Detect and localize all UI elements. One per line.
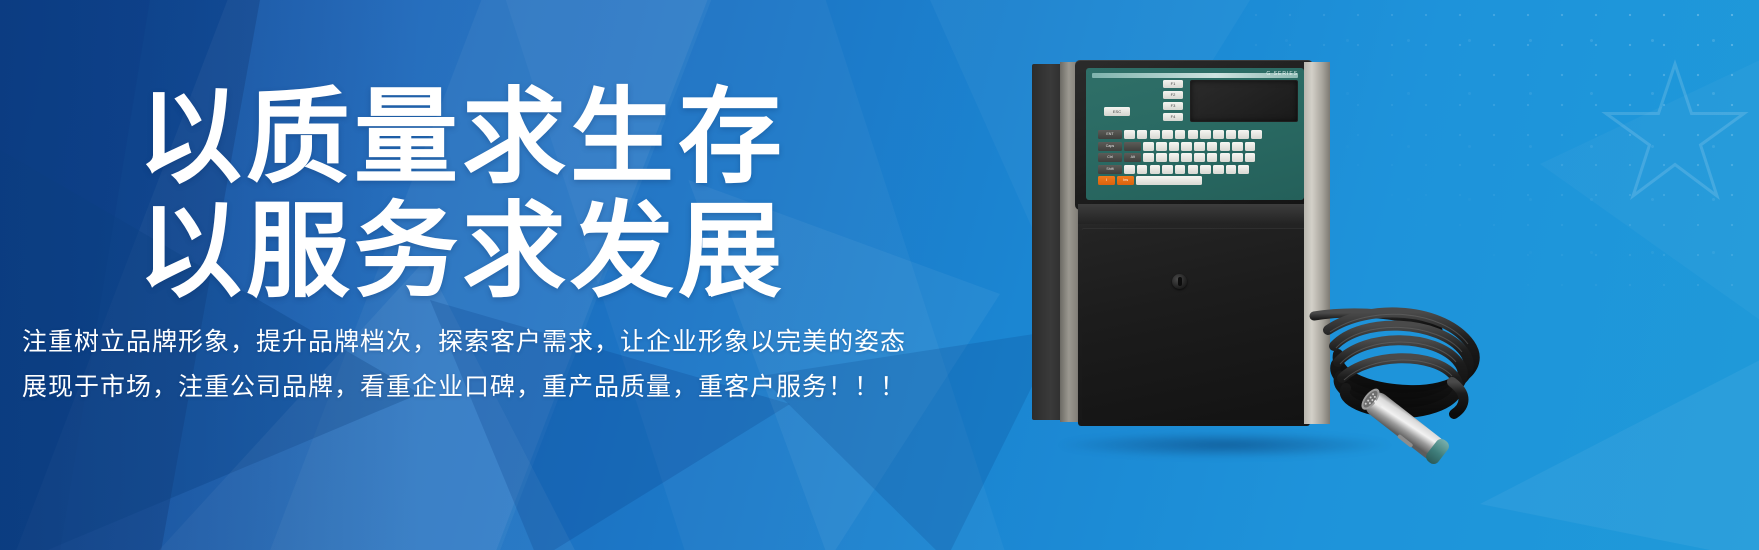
key-row1-1[interactable]: [1124, 130, 1135, 139]
key-orange-1[interactable]: I: [1098, 176, 1115, 185]
key-row3-2[interactable]: [1156, 153, 1167, 162]
key-row2-2[interactable]: [1156, 142, 1167, 151]
headline-line-1: 以质量求生存: [138, 86, 786, 190]
product-image-inkjet-printer: G SERIES F1 F2 F3 F4 ESC ENT: [1020, 40, 1640, 510]
key-row4-2[interactable]: [1137, 165, 1148, 174]
key-row4-4[interactable]: [1162, 165, 1173, 174]
keyboard-row: ENT: [1098, 130, 1294, 139]
key-row1-5[interactable]: [1175, 130, 1186, 139]
key-row3-8[interactable]: [1232, 153, 1243, 162]
lcd-screen: [1190, 80, 1298, 122]
key-row1-4[interactable]: [1162, 130, 1173, 139]
cabinet-door: [1082, 228, 1306, 420]
key-row4-8[interactable]: [1213, 165, 1224, 174]
subcopy-line-2: 展现于市场，注重公司品牌，看重企业口碑，重产品质量，重客户服务！！！: [22, 375, 906, 400]
cabinet-top-lip: [1078, 204, 1310, 224]
key-row4-5[interactable]: [1175, 165, 1186, 174]
key-row4-9[interactable]: [1226, 165, 1237, 174]
key-row2-8[interactable]: [1232, 142, 1243, 151]
key-ent[interactable]: ENT: [1098, 130, 1122, 139]
key-row3-1[interactable]: [1143, 153, 1154, 162]
key-row4-1[interactable]: [1124, 165, 1135, 174]
promo-banner: 以质量求生存 以服务求发展 注重树立品牌形象，提升品牌档次，探索客户需求，让企业…: [0, 0, 1759, 550]
key-caps[interactable]: Caps: [1098, 142, 1122, 151]
key-f3[interactable]: F3: [1163, 102, 1183, 110]
key-row4-7[interactable]: [1200, 165, 1211, 174]
key-orange-2[interactable]: Ins: [1117, 176, 1134, 185]
key-row2-5[interactable]: [1194, 142, 1205, 151]
key-row1-11[interactable]: [1251, 130, 1262, 139]
key-row3-4[interactable]: [1181, 153, 1192, 162]
key-f4[interactable]: F4: [1163, 113, 1183, 121]
subcopy-line-1: 注重树立品牌形象，提升品牌档次，探索客户需求，让企业形象以完美的姿态: [22, 330, 906, 355]
key-f2[interactable]: F2: [1163, 91, 1183, 99]
key-shift[interactable]: Shift: [1098, 165, 1122, 174]
key-row4-3[interactable]: [1150, 165, 1161, 174]
key-row1-9[interactable]: [1226, 130, 1237, 139]
key-row4-6[interactable]: [1188, 165, 1199, 174]
key-row4-10[interactable]: [1238, 165, 1249, 174]
key-alt[interactable]: Alt: [1124, 153, 1141, 162]
key-row1-6[interactable]: [1188, 130, 1199, 139]
key-row1-10[interactable]: [1238, 130, 1249, 139]
key-row3-3[interactable]: [1169, 153, 1180, 162]
copy-block: 以质量求生存 以服务求发展 注重树立品牌形象，提升品牌档次，探索客户需求，让企业…: [0, 0, 1000, 550]
function-key-column[interactable]: F1 F2 F3 F4: [1163, 80, 1183, 124]
key-row2-4[interactable]: [1181, 142, 1192, 151]
keyboard-row: Caps: [1098, 142, 1294, 151]
key-row2-6[interactable]: [1207, 142, 1218, 151]
key-row2-7[interactable]: [1220, 142, 1231, 151]
keyboard-row: Shift: [1098, 165, 1294, 174]
key-row3-9[interactable]: [1245, 153, 1256, 162]
key-row1-3[interactable]: [1150, 130, 1161, 139]
door-lock-icon: [1172, 274, 1187, 289]
key-row3-7[interactable]: [1220, 153, 1231, 162]
key-row2-1[interactable]: [1143, 142, 1154, 151]
keyboard-grid[interactable]: ENT Caps: [1098, 130, 1294, 188]
panel-brand-label: G SERIES: [1266, 71, 1298, 77]
headline-line-2: 以服务求发展: [138, 200, 786, 304]
key-esc[interactable]: ESC: [1104, 107, 1130, 116]
key-row2-9[interactable]: [1245, 142, 1256, 151]
key-space[interactable]: [1136, 176, 1202, 185]
control-panel-keypad[interactable]: G SERIES F1 F2 F3 F4 ESC ENT: [1086, 68, 1304, 200]
key-tab[interactable]: [1124, 142, 1141, 151]
key-row1-7[interactable]: [1200, 130, 1211, 139]
key-row2-3[interactable]: [1169, 142, 1180, 151]
key-row1-8[interactable]: [1213, 130, 1224, 139]
keyboard-row-bottom: I Ins: [1098, 176, 1294, 185]
key-f1[interactable]: F1: [1163, 80, 1183, 88]
key-row3-5[interactable]: [1194, 153, 1205, 162]
key-row1-2[interactable]: [1137, 130, 1148, 139]
key-row3-6[interactable]: [1207, 153, 1218, 162]
keyboard-row: Ctrl Alt: [1098, 153, 1294, 162]
key-ctrl[interactable]: Ctrl: [1098, 153, 1122, 162]
print-head: [1336, 370, 1466, 490]
